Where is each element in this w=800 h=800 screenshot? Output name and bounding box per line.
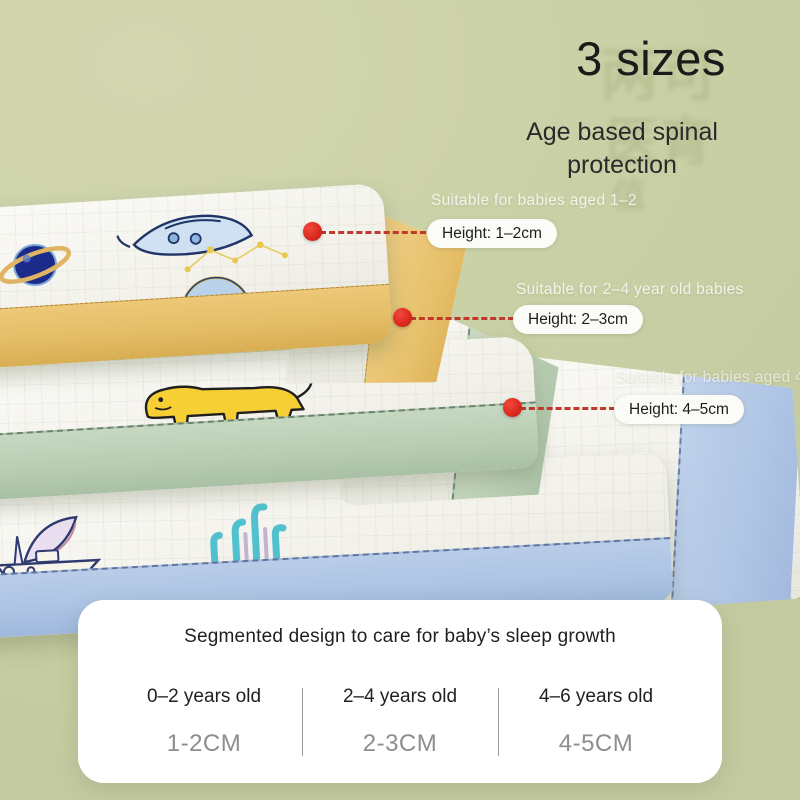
column-size-value: 4-5CM (498, 730, 694, 758)
leader-line-large (520, 407, 615, 410)
size-comparison-card: Segmented design to care for baby’s slee… (78, 600, 722, 783)
height-badge-medium: Height: 2–3cm (513, 305, 643, 334)
size-column-large: 4–6 years old 4-5CM (498, 686, 694, 758)
marker-dot-large (503, 398, 522, 417)
page-title: 3 sizes (508, 34, 794, 84)
size-column-medium: 2–4 years old 2-3CM (302, 686, 498, 758)
marker-dot-small (303, 222, 322, 241)
subtitle-line-2: protection (450, 149, 794, 182)
page-subtitle: Age based spinal protection (450, 116, 794, 182)
subtitle-line-1: Age based spinal (450, 116, 794, 149)
leader-line-medium (410, 317, 514, 320)
product-infographic: 两可 医育 值 (0, 0, 800, 800)
column-age-label: 0–2 years old (106, 686, 302, 708)
card-title: Segmented design to care for baby’s slee… (78, 626, 722, 648)
suitable-label-small: Suitable for babies aged 1–2 (431, 192, 637, 210)
column-age-label: 2–4 years old (302, 686, 498, 708)
height-badge-large: Height: 4–5cm (614, 395, 744, 424)
size-column-small: 0–2 years old 1-2CM (106, 686, 302, 758)
column-size-value: 2-3CM (302, 730, 498, 758)
suitable-label-medium: Suitable for 2–4 year old babies (516, 281, 744, 299)
suitable-label-large: Suitable for babies aged 4–6 (616, 369, 800, 387)
leader-line-small (320, 231, 426, 234)
height-badge-small: Height: 1–2cm (427, 219, 557, 248)
pillow-small (0, 183, 393, 369)
marker-dot-medium (393, 308, 412, 327)
column-age-label: 4–6 years old (498, 686, 694, 708)
size-comparison-columns: 0–2 years old 1-2CM 2–4 years old 2-3CM … (106, 686, 694, 758)
column-size-value: 1-2CM (106, 730, 302, 758)
